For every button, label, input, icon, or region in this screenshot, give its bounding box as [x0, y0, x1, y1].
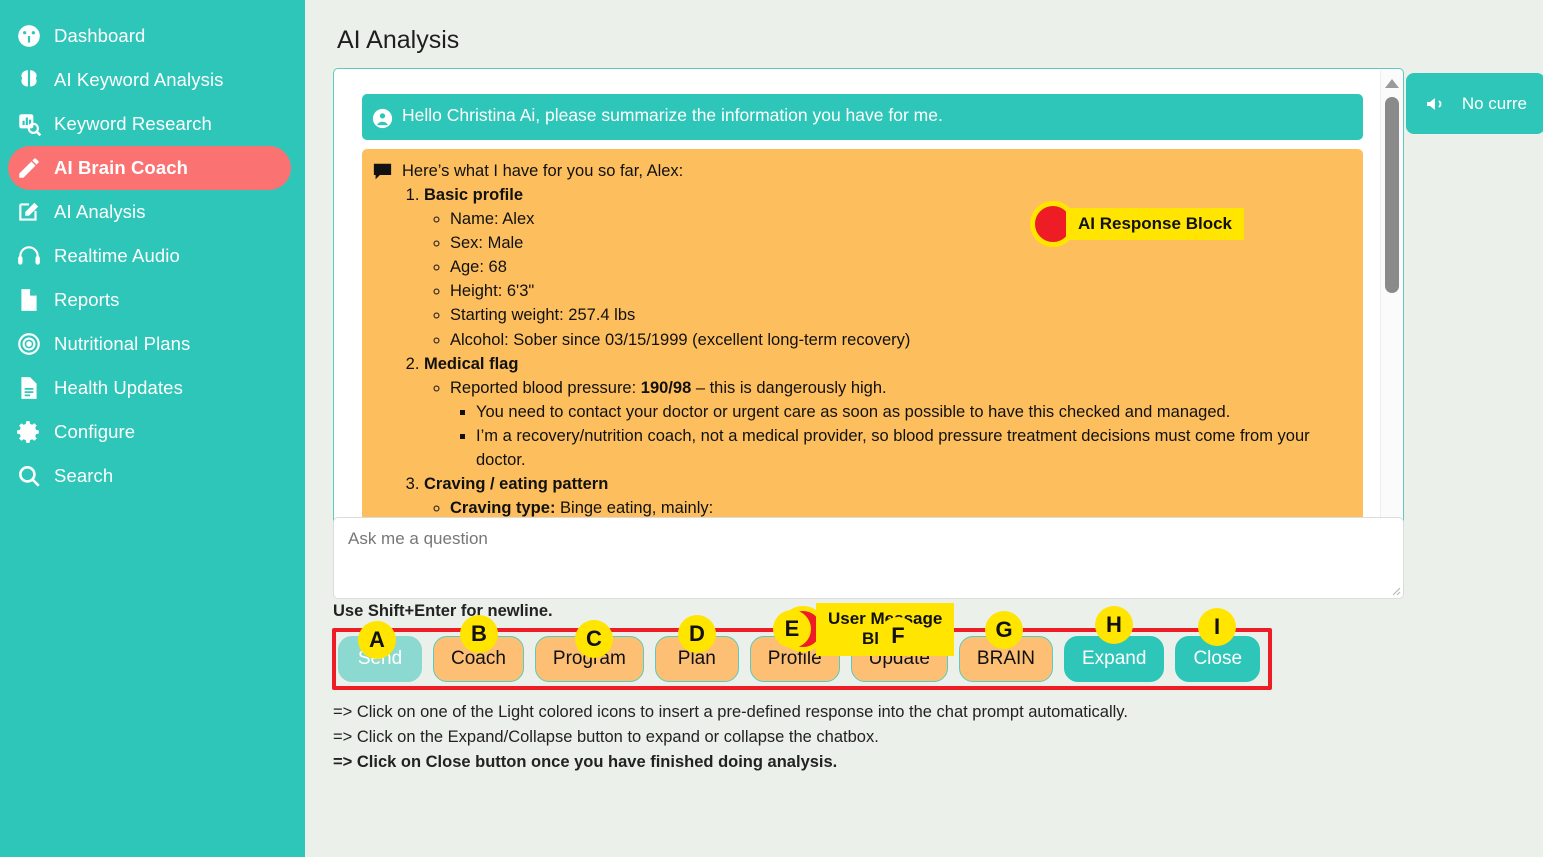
ai-section-medical-flag: Medical flag Reported blood pressure: 19… [424, 352, 1349, 472]
sidebar-item-ai-keyword-analysis[interactable]: AI Keyword Analysis [8, 58, 291, 102]
sidebar-item-label: Realtime Audio [54, 245, 180, 267]
ai-text-bold-lead: Craving type: [450, 499, 555, 517]
sidebar-item-label: Configure [54, 421, 135, 443]
document-icon [16, 285, 54, 315]
sidebar-item-dashboard[interactable]: Dashboard [8, 14, 291, 58]
ai-list-item: Height: 6'3" [450, 279, 1349, 303]
sidebar-item-label: AI Keyword Analysis [54, 69, 224, 91]
sidebar-item-label: AI Analysis [54, 201, 146, 223]
ai-section-heading: Basic profile [424, 186, 523, 204]
ai-text: Binge eating, mainly: [555, 499, 713, 517]
ai-text-prefix: Reported blood pressure: [450, 379, 641, 397]
ai-sub-item: You need to contact your doctor or urgen… [476, 400, 1349, 424]
chart-search-icon [16, 109, 54, 139]
chat-box: Hello Christina Ai, please summarize the… [333, 68, 1404, 568]
headphones-icon [16, 241, 54, 271]
brain-button-label: BRAIN [977, 648, 1035, 670]
letter-badge-i: I [1198, 608, 1236, 646]
scrollbar-thumb[interactable] [1385, 97, 1399, 293]
chat-bubble-icon [362, 159, 402, 554]
sidebar-item-health-updates[interactable]: Health Updates [8, 366, 291, 410]
brain-icon [16, 65, 54, 95]
sidebar-item-label: Reports [54, 289, 119, 311]
page-title: AI Analysis [337, 26, 459, 55]
sidebar-item-label: Nutritional Plans [54, 333, 190, 355]
pencil-icon [16, 153, 54, 183]
letter-badge-f: F [879, 617, 917, 655]
ai-section-heading: Craving / eating pattern [424, 475, 608, 493]
gear-icon [16, 417, 54, 447]
ai-intro-line: Here’s what I have for you so far, Alex: [402, 159, 1349, 183]
sidebar-item-label: Search [54, 465, 113, 487]
user-circle-icon [362, 105, 402, 129]
search-icon [16, 461, 54, 491]
sidebar-item-label: Health Updates [54, 377, 183, 399]
footer-hint-line: => Click on one of the Light colored ico… [333, 700, 1128, 725]
app-root: Dashboard AI Keyword Analysis Keyword Re… [0, 0, 1543, 857]
letter-badge-d: D [678, 615, 716, 653]
ai-section-heading: Medical flag [424, 355, 518, 373]
letter-badge-g: G [985, 611, 1023, 649]
announcement-text: No curre [1462, 94, 1527, 114]
ai-sub-item: I’m a recovery/nutrition coach, not a me… [476, 424, 1349, 472]
letter-badge-a: A [358, 621, 396, 659]
sidebar-item-realtime-audio[interactable]: Realtime Audio [8, 234, 291, 278]
close-button-label: Close [1193, 648, 1242, 670]
footer-hints: => Click on one of the Light colored ico… [333, 700, 1128, 775]
user-message-text: Hello Christina Ai, please summarize the… [402, 105, 943, 126]
user-message-block: Hello Christina Ai, please summarize the… [362, 94, 1363, 140]
sidebar-item-reports[interactable]: Reports [8, 278, 291, 322]
edit-square-icon [16, 197, 54, 227]
ai-text-suffix: – this is dangerously high. [691, 379, 886, 397]
announcement-banner[interactable]: No curre [1406, 73, 1543, 134]
sidebar-item-keyword-research[interactable]: Keyword Research [8, 102, 291, 146]
annotation-ai-response-block: AI Response Block [1030, 201, 1244, 247]
letter-badge-c: C [575, 620, 613, 658]
ai-list-item: Age: 68 [450, 255, 1349, 279]
annotation-label: AI Response Block [1066, 208, 1244, 240]
target-icon [16, 329, 54, 359]
ai-list-item: Alcohol: Sober since 03/15/1999 (excelle… [450, 328, 1349, 352]
dashboard-gauge-icon [16, 21, 54, 51]
ask-question-input[interactable] [333, 517, 1404, 599]
scroll-up-arrow-icon[interactable] [1381, 73, 1403, 93]
main-content: AI Analysis No curre Hello Christina Ai,… [305, 0, 1543, 857]
ai-list-item: Reported blood pressure: 190/98 – this i… [450, 376, 1349, 472]
sidebar-item-nutritional-plans[interactable]: Nutritional Plans [8, 322, 291, 366]
chat-scrollbar[interactable] [1380, 70, 1402, 568]
sidebar-item-ai-brain-coach[interactable]: AI Brain Coach [8, 146, 291, 190]
newline-hint: Use Shift+Enter for newline. [333, 602, 553, 621]
ai-list-item: Starting weight: 257.4 lbs [450, 303, 1349, 327]
letter-badge-e: E [773, 610, 811, 648]
sidebar-item-label: Dashboard [54, 25, 145, 47]
sidebar-item-ai-analysis[interactable]: AI Analysis [8, 190, 291, 234]
sidebar-item-configure[interactable]: Configure [8, 410, 291, 454]
sidebar-item-label: Keyword Research [54, 113, 212, 135]
megaphone-icon [1424, 92, 1448, 116]
letter-badge-h: H [1095, 606, 1133, 644]
letter-badge-b: B [460, 615, 498, 653]
footer-hint-line: => Click on Close button once you have f… [333, 750, 1128, 775]
expand-button-label: Expand [1082, 648, 1146, 670]
ask-input-wrapper [333, 517, 1404, 599]
sidebar: Dashboard AI Keyword Analysis Keyword Re… [0, 0, 305, 857]
file-lines-icon [16, 373, 54, 403]
sidebar-item-label: AI Brain Coach [54, 157, 188, 179]
footer-hint-line: => Click on the Expand/Collapse button t… [333, 725, 1128, 750]
ai-text-bold: 190/98 [641, 379, 691, 397]
sidebar-item-search[interactable]: Search [8, 454, 291, 498]
